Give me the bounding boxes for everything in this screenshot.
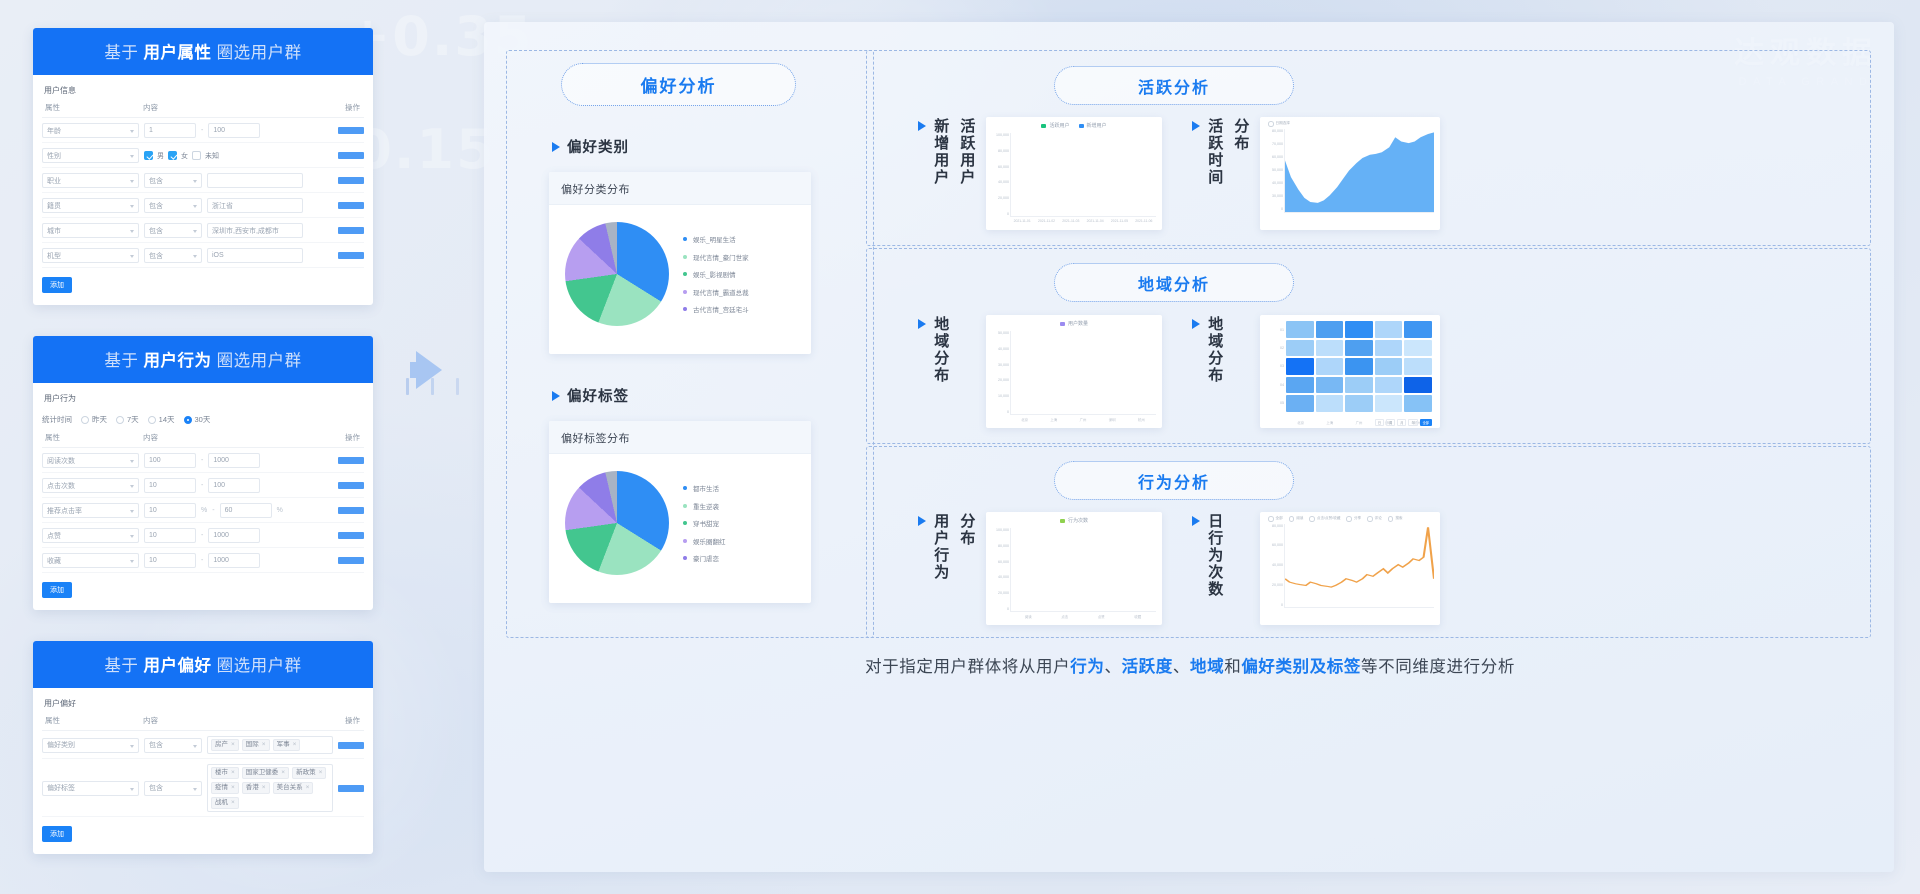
heatmap-cell — [1286, 395, 1314, 412]
legend-label: 古代言情_宫廷宅斗 — [693, 304, 749, 314]
heatmap-cell — [1345, 377, 1373, 394]
y-tick: 0 — [1281, 207, 1283, 211]
date-selector[interactable]: 日期选择 — [1268, 121, 1290, 127]
caption-part: 对于指定用户群体将从用户 — [865, 658, 1070, 676]
y-axis: 80,000 60,000 40,000 20,000 0 — [1262, 524, 1283, 607]
tag-chip[interactable]: 国际 — [242, 739, 270, 751]
chip-option[interactable]: 月 — [1397, 419, 1406, 426]
row-action-button[interactable] — [338, 557, 364, 564]
range-max-input[interactable]: 1000 — [208, 528, 260, 543]
vertical-label: 地域分布 — [931, 316, 950, 384]
vertical-label: 分布 — [957, 513, 976, 581]
caption-part: 、 — [1104, 658, 1121, 676]
tag-chip[interactable]: 军事 — [273, 739, 301, 751]
chart-title: 偏好分类分布 — [549, 172, 811, 205]
legend-item: 用户数量 — [1060, 320, 1088, 327]
x-tick: 点赞 — [1098, 614, 1105, 619]
subheading-preference-category: 偏好类别 — [552, 136, 629, 157]
y-tick: 60,000 — [1272, 543, 1283, 547]
y-tick: 40,000 — [998, 180, 1009, 184]
filter-option[interactable]: 搜索 — [1388, 516, 1403, 522]
chart-card-preference-tag: 偏好标签分布 都市生活 重生逆袭 穿书甜宠 娱乐圈翻红 豪门虐恋 — [549, 421, 811, 603]
heatmap-cell — [1316, 358, 1344, 375]
y-tick: 100,000 — [996, 133, 1009, 137]
filter-option[interactable]: 评论 — [1367, 516, 1382, 522]
time-range-option-7d[interactable]: 7天 — [116, 414, 139, 425]
attr-select[interactable]: 籍贯 — [42, 198, 139, 213]
card-header-user-preference: 基于 用户偏好 圈选用户群 — [33, 641, 373, 688]
line-series — [1285, 524, 1434, 607]
range-unit: % — [277, 507, 283, 514]
chart-toolbar[interactable]: 日期选择 — [1260, 117, 1440, 127]
column-header-attr: 属性 — [45, 102, 143, 113]
column-header-attr: 属性 — [45, 432, 143, 443]
x-tick: 广州 — [1080, 417, 1087, 422]
legend-label: 现代言情_豪门世家 — [693, 252, 749, 262]
legend-item: 娱乐_明星生活 — [683, 234, 749, 244]
y-tick: 60,000 — [998, 560, 1009, 564]
triangle-bullet-icon — [552, 391, 560, 401]
heatmap-cell — [1286, 377, 1314, 394]
x-tick: 杭州 — [1138, 417, 1145, 422]
y-tick: 50,000 — [1272, 168, 1283, 172]
y-tick: 40,000 — [1272, 563, 1283, 567]
legend-label: 现代言情_霸道总裁 — [693, 287, 749, 297]
heatmap-cell — [1316, 340, 1344, 357]
range-separator: - — [212, 507, 214, 514]
legend-item: 现代言情_霸道总裁 — [683, 287, 749, 297]
table-row: 阅读次数 100 - 1000 — [42, 448, 364, 473]
x-tick: 北京 — [1297, 420, 1304, 425]
filter-option[interactable]: 阅读 — [1289, 516, 1304, 522]
tag-chip[interactable]: 新政策 — [292, 767, 326, 779]
chart-active-time-area: 日期选择 80,000 70,000 60,000 50,000 40,000 … — [1260, 117, 1440, 230]
row-action-button[interactable] — [338, 742, 364, 749]
range-min-input[interactable]: 10 — [144, 553, 196, 568]
legend-label: 重生逆袭 — [693, 501, 719, 511]
table-row: 年龄 1 - 100 — [42, 118, 364, 143]
range-max-input[interactable]: 1000 — [208, 453, 260, 468]
pill-active-analysis[interactable]: 活跃分析 — [1054, 66, 1294, 105]
label-daily-behavior-count: 日行为次数 — [1192, 513, 1224, 598]
heatmap-cell — [1375, 377, 1403, 394]
vertical-label: 分布 — [1231, 118, 1250, 186]
pie-chart-area: 都市生活 重生逆袭 穿书甜宠 娱乐圈翻红 豪门虐恋 — [549, 454, 811, 592]
caption-part: 、 — [1173, 658, 1190, 676]
y-axis: 01 02 03 04 05 — [1264, 321, 1284, 412]
attr-select[interactable]: 年龄 — [42, 123, 139, 138]
value-input[interactable]: 深圳市,西安市,成都市 — [207, 223, 303, 238]
attr-select[interactable]: 阅读次数 — [42, 453, 139, 468]
legend-item: 娱乐_影视剧情 — [683, 269, 749, 279]
label-new-vs-active-users: 新增用户 活跃用户 — [918, 118, 976, 186]
table-row: 收藏 10 - 1000 — [42, 548, 364, 573]
filter-option[interactable]: 点击/点赞/收藏 — [1309, 516, 1340, 522]
operator-select[interactable]: 包含 — [144, 738, 202, 753]
heatmap-cell — [1375, 321, 1403, 338]
caption-keyword: 行为 — [1070, 658, 1104, 676]
column-header-action: 操作 — [334, 715, 364, 726]
x-tick: 广州 — [1356, 420, 1363, 425]
pie-chart — [565, 471, 669, 575]
heatmap-cell — [1404, 340, 1432, 357]
x-tick: 收藏 — [1134, 614, 1141, 619]
heatmap-cell — [1404, 358, 1432, 375]
column-header-content: 内容 — [143, 102, 334, 113]
y-tick: 0 — [1007, 212, 1009, 216]
legend-label: 行为次数 — [1068, 517, 1088, 524]
legend-item: 豪门虐恋 — [683, 553, 726, 563]
attr-select[interactable]: 收藏 — [42, 553, 139, 568]
y-tick: 40,000 — [1272, 181, 1283, 185]
card-body-user-attribute: 用户信息 属性 内容 操作 年龄 1 - 100 性别 男 女 — [33, 75, 373, 305]
card-title-highlight: 用户行为 — [144, 352, 212, 370]
label-active-time-distribution: 活跃时间 分布 — [1192, 118, 1250, 186]
checkbox-male[interactable] — [144, 151, 153, 160]
legend-item: 穿书甜宠 — [683, 518, 726, 528]
card-body-user-preference: 用户偏好 属性 内容 操作 偏好类别 包含 房产 国际 军事 偏好标签 包含 — [33, 688, 373, 854]
caption-part: 和 — [1224, 658, 1241, 676]
pill-preference-analysis[interactable]: 偏好分析 — [561, 63, 796, 106]
x-tick: 阅读 — [1025, 614, 1032, 619]
y-tick: 60,000 — [1272, 155, 1283, 159]
range-min-input[interactable]: 10 — [144, 503, 196, 518]
y-tick: 05 — [1280, 401, 1284, 405]
card-title-highlight: 用户偏好 — [144, 657, 212, 675]
chart-title: 偏好标签分布 — [549, 421, 811, 454]
attr-select[interactable]: 点击次数 — [42, 478, 139, 493]
pie-legend: 都市生活 重生逆袭 穿书甜宠 娱乐圈翻红 豪门虐恋 — [683, 483, 726, 563]
chart-region-bar: 用户数量 50,000 40,000 30,000 20,000 10,000 … — [986, 315, 1162, 428]
chip-option[interactable]: 日 — [1375, 419, 1384, 426]
range-min-input[interactable]: 100 — [144, 453, 196, 468]
time-range-label: 统计时间 — [42, 414, 72, 425]
y-tick: 01 — [1280, 328, 1284, 332]
heatmap-cell — [1375, 358, 1403, 375]
legend-item: 都市生活 — [683, 483, 726, 493]
tag-input-category[interactable]: 房产 国际 军事 — [207, 736, 333, 754]
row-action-button[interactable] — [338, 507, 364, 514]
chart-legend: 用户数量 — [986, 315, 1162, 329]
add-condition-button[interactable]: 添加 — [42, 826, 72, 842]
heatmap-footer-chips: 日 周 月 年 全部 — [1375, 419, 1432, 426]
y-tick: 20,000 — [998, 378, 1009, 382]
y-tick: 50,000 — [998, 331, 1009, 335]
range-min-input[interactable]: 1 — [144, 123, 196, 138]
y-tick: 40,000 — [998, 347, 1009, 351]
x-tick: 2021-11-02 — [1038, 219, 1055, 223]
tag-chip[interactable]: 疫情 — [211, 782, 239, 794]
table-row: 性别 男 女 未知 — [42, 143, 364, 168]
card-title-suffix: 圈选用户群 — [217, 44, 302, 62]
table-row: 籍贯 包含 浙江省 — [42, 193, 364, 218]
y-tick: 04 — [1280, 383, 1284, 387]
column-header-action: 操作 — [334, 432, 364, 443]
x-tick: 上海 — [1050, 417, 1057, 422]
filter-option[interactable]: 分享 — [1346, 516, 1361, 522]
label-region-distribution-bar: 地域分布 — [918, 316, 950, 384]
subheading-label: 偏好标签 — [567, 385, 629, 406]
triangle-bullet-icon — [1192, 319, 1200, 329]
attr-select[interactable]: 推荐点击率 — [42, 503, 139, 518]
range-min-input[interactable]: 10 — [144, 478, 196, 493]
table-row: 推荐点击率 10 % - 60 % — [42, 498, 364, 523]
section-label: 用户信息 — [44, 85, 364, 96]
operator-select[interactable]: 包含 — [144, 781, 202, 796]
column-header-content: 内容 — [143, 432, 334, 443]
attr-select[interactable]: 机型 — [42, 248, 139, 263]
legend-item: 新增用户 — [1079, 122, 1107, 129]
column-header-content: 内容 — [143, 715, 334, 726]
y-tick: 80,000 — [998, 149, 1009, 153]
column-header-attr: 属性 — [45, 715, 143, 726]
checkbox-female[interactable] — [168, 151, 177, 160]
checkbox-label-unknown: 未知 — [205, 151, 219, 161]
y-axis: 50,000 40,000 30,000 20,000 10,000 0 — [988, 331, 1009, 414]
pie-legend: 娱乐_明星生活 现代言情_豪门世家 娱乐_影视剧情 现代言情_霸道总裁 古代言情… — [683, 234, 749, 314]
range-separator: - — [201, 457, 203, 464]
vertical-label: 日行为次数 — [1205, 513, 1224, 598]
tag-input-label[interactable]: 楼市 国家卫健委 新政策 疫情 香港 美台关系 战机 — [207, 764, 333, 812]
y-tick: 40,000 — [998, 575, 1009, 579]
add-condition-button[interactable]: 添加 — [42, 582, 72, 598]
table-column-headers: 属性 内容 操作 — [42, 715, 364, 731]
subheading-label: 偏好类别 — [567, 136, 629, 157]
tag-chip[interactable]: 楼市 — [211, 767, 239, 779]
operator-select[interactable]: 包含 — [144, 173, 202, 188]
value-input[interactable]: iOS — [207, 248, 303, 263]
bar-series — [1011, 331, 1156, 414]
range-max-input[interactable]: 100 — [208, 478, 260, 493]
caption-part: 等不同维度进行分析 — [1361, 658, 1515, 676]
attr-select[interactable]: 偏好类别 — [42, 738, 139, 753]
x-tick: 2021-11-04 — [1087, 219, 1104, 223]
row-action-button[interactable] — [338, 785, 364, 792]
tag-chip[interactable]: 国家卫健委 — [242, 767, 289, 779]
y-tick: 02 — [1280, 346, 1284, 350]
time-range-option-30d[interactable]: 30天 — [184, 414, 211, 425]
checkbox-label-female: 女 — [181, 151, 188, 161]
x-tick: 2021-11-01 — [1014, 219, 1031, 223]
card-title-prefix: 基于 — [104, 352, 138, 370]
caption-keyword: 偏好类别及标签 — [1241, 658, 1361, 676]
label-region-distribution-heatmap: 地域分布 — [1192, 316, 1224, 384]
heatmap-cell — [1375, 340, 1403, 357]
row-action-button[interactable] — [338, 127, 364, 134]
legend-item: 活跃用户 — [1041, 122, 1069, 129]
vertical-label: 新增用户 — [931, 118, 950, 186]
legend-label: 豪门虐恋 — [693, 553, 719, 563]
legend-item: 古代言情_宫廷宅斗 — [683, 304, 749, 314]
chart-active-users-bar: 活跃用户 新增用户 100,000 80,000 60,000 40,000 2… — [986, 117, 1162, 230]
checkbox-unknown[interactable] — [192, 151, 201, 160]
card-user-preference: 基于 用户偏好 圈选用户群 用户偏好 属性 内容 操作 偏好类别 包含 房产 国… — [33, 641, 373, 854]
row-action-button[interactable] — [338, 252, 364, 259]
pill-behavior-analysis[interactable]: 行为分析 — [1054, 461, 1294, 500]
x-tick: 2021-11-05 — [1111, 219, 1128, 223]
range-separator: - — [201, 557, 203, 564]
chip-option-selected[interactable]: 全部 — [1420, 419, 1432, 426]
attr-select[interactable]: 点赞 — [42, 528, 139, 543]
chart-legend: 行为次数 — [986, 512, 1162, 526]
heatmap-cell — [1375, 395, 1403, 412]
plot-area: 100,000 80,000 60,000 40,000 20,000 0 — [1010, 133, 1156, 217]
heatmap-cell — [1404, 395, 1432, 412]
row-action-button[interactable] — [338, 177, 364, 184]
pill-region-analysis[interactable]: 地域分析 — [1054, 263, 1294, 302]
x-tick: 上海 — [1326, 420, 1333, 425]
filter-option[interactable]: 全部 — [1268, 516, 1283, 522]
value-input[interactable] — [207, 173, 303, 188]
range-max-input[interactable]: 1000 — [208, 553, 260, 568]
row-action-button[interactable] — [338, 532, 364, 539]
attr-select[interactable]: 性别 — [42, 148, 139, 163]
y-axis: 100,000 80,000 60,000 40,000 20,000 0 — [988, 528, 1009, 611]
row-action-button[interactable] — [338, 482, 364, 489]
triangle-bullet-icon — [1192, 121, 1200, 131]
table-row: 点赞 10 - 1000 — [42, 523, 364, 548]
card-body-user-behavior: 用户行为 统计时间 昨天 7天 14天 30天 — [33, 383, 373, 610]
caption-keyword: 活跃度 — [1122, 658, 1173, 676]
range-max-input[interactable]: 100 — [208, 123, 260, 138]
y-axis: 100,000 80,000 60,000 40,000 20,000 0 — [988, 133, 1009, 216]
legend-item: 现代言情_豪门世家 — [683, 252, 749, 262]
attr-select[interactable]: 偏好标签 — [42, 781, 139, 796]
legend-label: 用户数量 — [1068, 320, 1088, 327]
card-title-suffix: 圈选用户群 — [217, 352, 302, 370]
radio-dot-selected — [184, 416, 192, 424]
chip-option[interactable]: 周 — [1386, 419, 1395, 426]
legend-label: 娱乐_明星生活 — [693, 234, 736, 244]
tag-chip[interactable]: 香港 — [242, 782, 270, 794]
subheading-preference-tag: 偏好标签 — [552, 385, 629, 406]
y-tick: 0 — [1007, 607, 1009, 611]
triangle-bullet-icon — [918, 319, 926, 329]
section-label: 用户行为 — [44, 393, 364, 404]
triangle-bullet-icon — [918, 516, 926, 526]
y-tick: 100,000 — [996, 528, 1009, 532]
time-range-option-label: 30天 — [195, 414, 211, 425]
column-header-action: 操作 — [334, 102, 364, 113]
chart-daily-behavior-line: 全部 阅读 点击/点赞/收藏 分享 评论 搜索 80,000 60,000 40… — [1260, 512, 1440, 625]
pie-chart — [565, 222, 669, 326]
operator-select[interactable]: 包含 — [144, 248, 202, 263]
y-tick: 10,000 — [998, 394, 1009, 398]
y-tick: 80,000 — [998, 544, 1009, 548]
card-header-user-attribute: 基于 用户属性 圈选用户群 — [33, 28, 373, 75]
radio-dot — [81, 416, 89, 424]
range-separator: - — [201, 127, 203, 134]
table-row: 职业 包含 — [42, 168, 364, 193]
row-action-button[interactable] — [338, 227, 364, 234]
area-series — [1285, 129, 1434, 212]
heatmap-cell — [1316, 395, 1344, 412]
tag-chip[interactable]: 美台关系 — [273, 782, 314, 794]
x-tick: 深圳 — [1109, 417, 1116, 422]
pie-chart-area: 娱乐_明星生活 现代言情_豪门世家 娱乐_影视剧情 现代言情_霸道总裁 古代言情… — [549, 205, 811, 343]
plot-area: 80,000 60,000 40,000 20,000 0 — [1284, 524, 1434, 608]
chart-filter-bar[interactable]: 全部 阅读 点击/点赞/收藏 分享 评论 搜索 — [1260, 512, 1440, 522]
row-action-button[interactable] — [338, 457, 364, 464]
chip-option[interactable]: 年 — [1408, 419, 1417, 426]
section-label: 用户偏好 — [44, 698, 364, 709]
add-condition-button[interactable]: 添加 — [42, 277, 72, 293]
time-range-option-14d[interactable]: 14天 — [148, 414, 175, 425]
chart-card-preference-category: 偏好分类分布 娱乐_明星生活 现代言情_豪门世家 娱乐_影视剧情 现代言情_霸道… — [549, 172, 811, 354]
range-max-input[interactable]: 60 — [220, 503, 272, 518]
value-input[interactable]: 浙江省 — [207, 198, 303, 213]
heatmap-cell — [1345, 395, 1373, 412]
range-separator: - — [201, 482, 203, 489]
table-row: 偏好类别 包含 房产 国际 军事 — [42, 731, 364, 759]
heatmap-cell — [1316, 321, 1344, 338]
y-tick: 20,000 — [998, 196, 1009, 200]
time-range-option-label: 昨天 — [92, 414, 107, 425]
y-axis: 80,000 70,000 60,000 50,000 40,000 30,00… — [1262, 129, 1283, 212]
row-action-button[interactable] — [338, 152, 364, 159]
flow-arrow-icon — [396, 345, 468, 395]
heatmap-cell — [1316, 377, 1344, 394]
card-title-suffix: 圈选用户群 — [217, 657, 302, 675]
radio-dot — [148, 416, 156, 424]
attr-select[interactable]: 职业 — [42, 173, 139, 188]
operator-select[interactable]: 包含 — [144, 198, 202, 213]
left-card-stack: 基于 用户属性 圈选用户群 用户信息 属性 内容 操作 年龄 1 - 100 性… — [33, 28, 373, 885]
time-range-selector: 统计时间 昨天 7天 14天 30天 — [42, 410, 364, 432]
range-min-input[interactable]: 10 — [144, 528, 196, 543]
legend-label: 娱乐圈翻红 — [693, 536, 726, 546]
time-range-option-label: 14天 — [159, 414, 175, 425]
table-row: 城市 包含 深圳市,西安市,成都市 — [42, 218, 364, 243]
plot-area: 50,000 40,000 30,000 20,000 10,000 0 — [1010, 331, 1156, 415]
y-tick: 80,000 — [1272, 524, 1283, 528]
card-user-attribute: 基于 用户属性 圈选用户群 用户信息 属性 内容 操作 年龄 1 - 100 性… — [33, 28, 373, 305]
legend-label: 都市生活 — [693, 483, 719, 493]
card-user-behavior: 基于 用户行为 圈选用户群 用户行为 统计时间 昨天 7天 14天 — [33, 336, 373, 610]
tag-chip[interactable]: 战机 — [211, 797, 239, 809]
range-separator: - — [201, 532, 203, 539]
table-row: 偏好标签 包含 楼市 国家卫健委 新政策 疫情 香港 美台关系 战机 — [42, 759, 364, 817]
heatmap-cell — [1404, 377, 1432, 394]
triangle-bullet-icon — [1192, 516, 1200, 526]
heatmap-cell — [1345, 321, 1373, 338]
x-tick: 2021-11-06 — [1135, 219, 1152, 223]
y-tick: 80,000 — [1272, 129, 1283, 133]
chart-region-heatmap: 01 02 03 04 05 北京 上海 广州 深圳 杭州 日 周 月 年 全部 — [1260, 315, 1440, 428]
y-tick: 0 — [1007, 410, 1009, 414]
card-title-prefix: 基于 — [104, 44, 138, 62]
tag-chip[interactable]: 房产 — [211, 739, 239, 751]
plot-area: 100,000 80,000 60,000 40,000 20,000 0 — [1010, 528, 1156, 612]
time-range-option-yesterday[interactable]: 昨天 — [81, 414, 107, 425]
bar-series — [1011, 133, 1156, 216]
vertical-label: 地域分布 — [1205, 316, 1224, 384]
checkbox-label-male: 男 — [157, 151, 164, 161]
table-row: 点击次数 10 - 100 — [42, 473, 364, 498]
label-user-behavior-distribution: 用户行为 分布 — [918, 513, 976, 581]
card-title-highlight: 用户属性 — [144, 44, 212, 62]
row-action-button[interactable] — [338, 202, 364, 209]
caption-keyword: 地域 — [1190, 658, 1224, 676]
table-column-headers: 属性 内容 操作 — [42, 102, 364, 118]
attr-select[interactable]: 城市 — [42, 223, 139, 238]
x-tick: 北京 — [1021, 417, 1028, 422]
y-tick: 20,000 — [998, 591, 1009, 595]
operator-select[interactable]: 包含 — [144, 223, 202, 238]
checkbox-group: 男 女 未知 — [144, 151, 219, 161]
triangle-bullet-icon — [552, 142, 560, 152]
legend-label: 活跃用户 — [1049, 122, 1069, 129]
